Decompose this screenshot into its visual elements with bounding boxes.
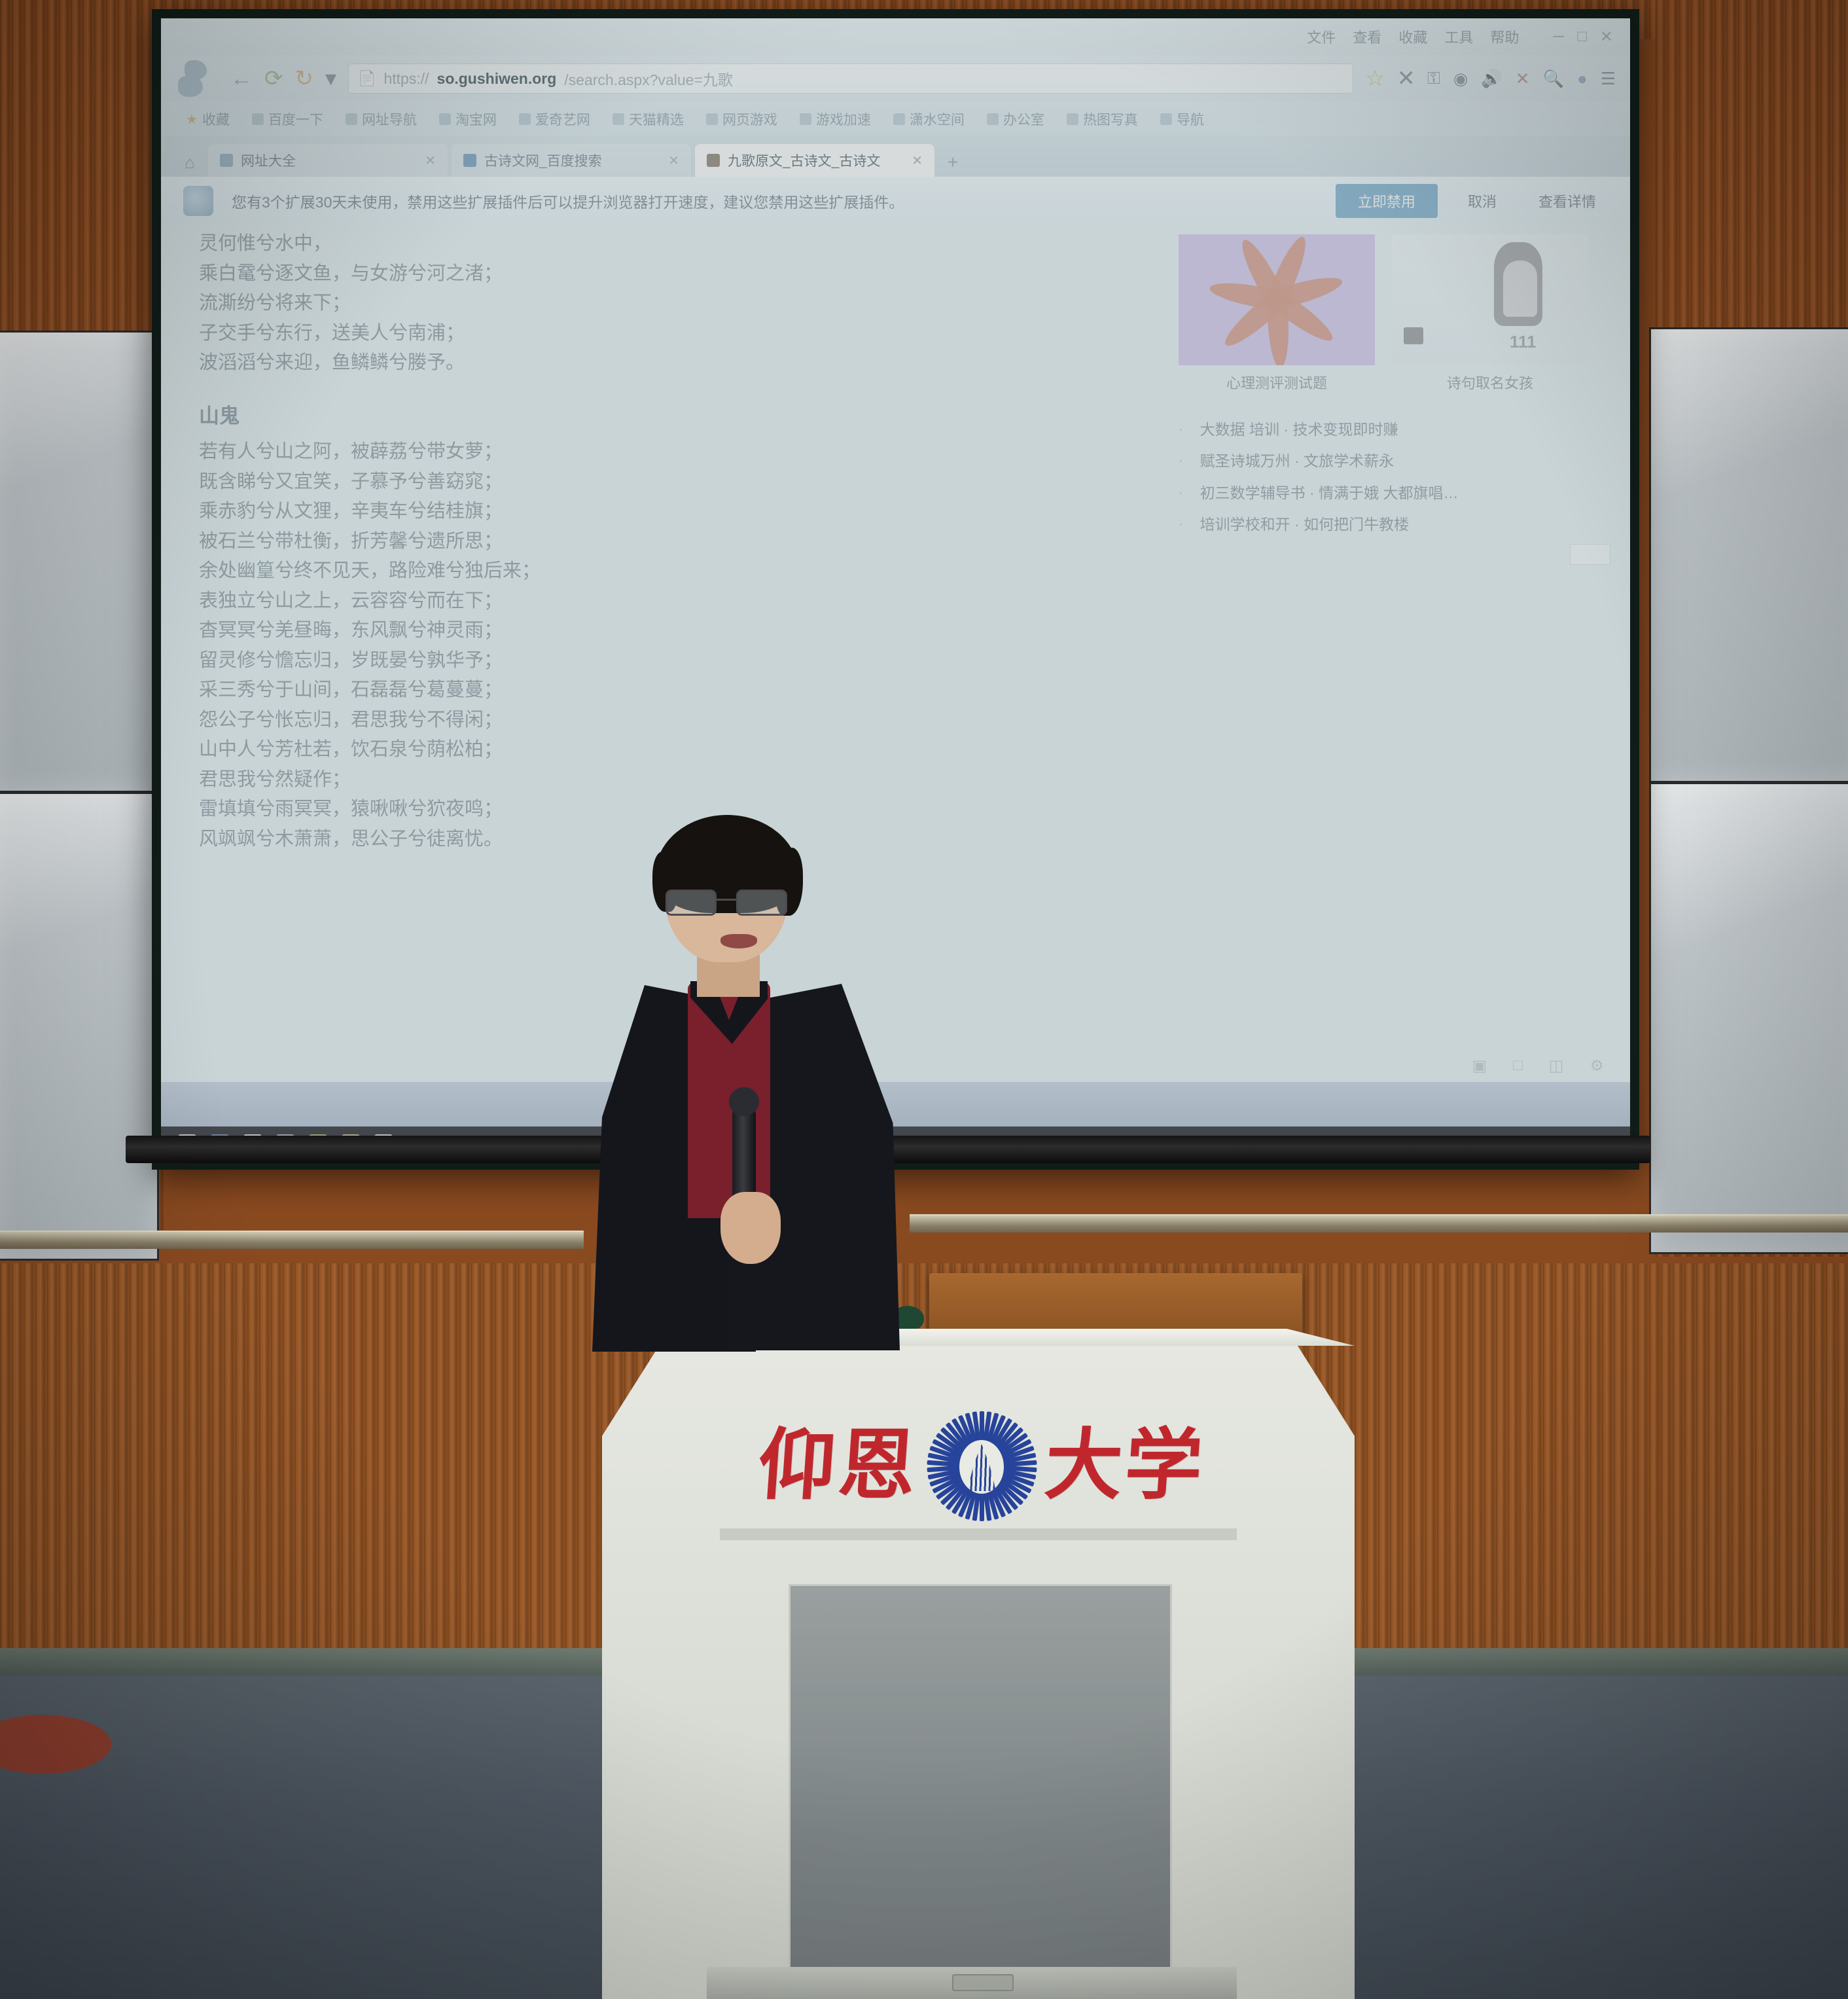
- whiteboard-right-upper: [1649, 327, 1848, 783]
- bullet-icon: ·: [1179, 416, 1183, 443]
- menu-favorites[interactable]: 收藏: [1398, 26, 1427, 47]
- bookmarks-bar: ★收藏 百度一下 网址导航 淘宝网 爱奇艺网 天猫精选 网页游戏 游戏加速 潇水…: [161, 102, 1630, 136]
- monitor-icon[interactable]: ◫: [1549, 1056, 1564, 1075]
- speaker-hand: [720, 1192, 781, 1264]
- tab-label: 古诗文网_百度搜索: [484, 151, 602, 170]
- sidebar-link-3[interactable]: ·培训学校和开 · 如何把门牛教楼: [1179, 509, 1610, 540]
- whiteboard-marker-tray-left: [0, 1231, 584, 1249]
- lecture-hall-photo: 文件 查看 收藏 工具 帮助 ─ □ ✕ ← ⟳ ↻: [0, 0, 1848, 1999]
- shield-icon[interactable]: ⚿: [1427, 68, 1440, 89]
- sidebar-link-0[interactable]: ·大数据 培训 · 技术变现即时赚: [1179, 414, 1610, 445]
- whiteboard-right-lower: [1649, 782, 1848, 1254]
- university-name-right: 大学: [1042, 1428, 1207, 1505]
- fullscreen-icon[interactable]: □: [1513, 1056, 1523, 1075]
- poem-line: 波滔滔兮来迎，鱼鳞鳞兮媵予。: [199, 348, 1141, 378]
- url-path: /search.aspx?value=九歌: [564, 67, 733, 90]
- back-arrow-icon[interactable]: ←: [230, 67, 253, 90]
- bookmark-item-6[interactable]: 网页游戏: [698, 107, 785, 131]
- settings-icon[interactable]: ⚙: [1590, 1056, 1604, 1075]
- menu-help[interactable]: 帮助: [1490, 26, 1519, 47]
- view-details-button[interactable]: 查看详情: [1527, 184, 1608, 218]
- poem-line: 雷填填兮雨冥冥，猿啾啾兮狖夜鸣；: [199, 795, 1141, 825]
- zoom-icon[interactable]: ▣: [1472, 1056, 1487, 1075]
- chevron-down-icon[interactable]: ▾: [325, 67, 336, 90]
- bookmark-item-4[interactable]: 爱奇艺网: [511, 107, 598, 131]
- university-logo: 仰恩 大学: [753, 1397, 1211, 1535]
- sidebar-link-label: 培训学校和开 · 如何把门牛教楼: [1200, 509, 1409, 540]
- bookmark-star-icon[interactable]: ☆: [1365, 67, 1385, 90]
- bookmark-label: 导航: [1177, 109, 1204, 129]
- tab-favicon: [220, 154, 233, 167]
- bullet-icon: ·: [1179, 511, 1183, 538]
- speaker-mouth: [720, 934, 757, 948]
- bullet-icon: ·: [1179, 447, 1183, 475]
- url-scheme: https://: [383, 70, 429, 88]
- sidebar-link-2[interactable]: ·初三数学辅导书 · 情满于娥 大都旗唱…: [1179, 477, 1610, 509]
- sidebar-link-label: 赋圣诗城万州 · 文旅学术薪永: [1200, 445, 1394, 477]
- whiteboard-marker-tray-right: [910, 1214, 1848, 1233]
- whiteboard-left-lower: [0, 792, 159, 1261]
- sidebar-link-label: 大数据 培训 · 技术变现即时赚: [1200, 414, 1398, 445]
- poem-line: 子交手兮东行，送美人兮南浦；: [199, 319, 1141, 349]
- forward-arrow-icon[interactable]: ↻: [295, 67, 314, 90]
- page-icon: 📄: [358, 70, 376, 87]
- tab-favicon: [707, 154, 720, 167]
- window-status-icons: ▣ □ ◫ ⚙: [1472, 1056, 1604, 1075]
- sidebar-link-label: 初三数学辅导书 · 情满于娥 大都旗唱…: [1200, 477, 1459, 509]
- sogou-browser-logo-icon: [175, 59, 219, 98]
- poem-line: 怨公子兮怅忘归，君思我兮不得闲；: [199, 706, 1141, 736]
- close-tab-icon[interactable]: ✕: [1516, 69, 1530, 89]
- new-tab-button[interactable]: +: [938, 148, 967, 177]
- poem-line: 灵何惟兮水中，: [199, 229, 1141, 259]
- tab-close-icon[interactable]: ✕: [425, 153, 436, 169]
- bookmark-label: 天猫精选: [629, 109, 684, 129]
- extension-icon: [183, 186, 213, 216]
- poem-line: 杳冥冥兮羌昼晦，东风飘兮神灵雨；: [199, 616, 1141, 646]
- tab-0[interactable]: 网址大全 ✕: [208, 144, 448, 177]
- poem-line: 乘白鼋兮逐文鱼，与女游兮河之渚；: [199, 259, 1141, 289]
- poem-line: 采三秀兮于山间，石磊磊兮葛蔓蔓；: [199, 675, 1141, 706]
- cancel-button[interactable]: 取消: [1456, 184, 1508, 218]
- ad-caption: 心理测评测试题: [1179, 372, 1375, 393]
- reload-icon[interactable]: ⟳: [264, 67, 283, 90]
- bookmark-label: 热图写真: [1083, 109, 1138, 129]
- bookmark-item-9[interactable]: 办公室: [979, 107, 1052, 131]
- tab-close-icon[interactable]: ✕: [668, 153, 679, 169]
- bookmark-item-3[interactable]: 淘宝网: [431, 107, 505, 131]
- sidebar-more-button[interactable]: [1570, 544, 1610, 565]
- bookmark-label: 淘宝网: [455, 109, 497, 129]
- ad-card-1[interactable]: 111 诗句取名女孩: [1392, 234, 1588, 393]
- pinwheel-graphic-icon: [1179, 234, 1375, 365]
- bookmark-item-7[interactable]: 游戏加速: [792, 107, 879, 131]
- sidebar-column: 心理测评测试题 111 诗句取名女孩: [1167, 225, 1630, 1161]
- ad-card-0[interactable]: 心理测评测试题: [1179, 234, 1375, 393]
- bookmark-label: 游戏加速: [816, 109, 871, 129]
- bookmark-item-2[interactable]: 网址导航: [338, 107, 425, 131]
- minimize-button[interactable]: ─: [1553, 27, 1564, 46]
- home-icon[interactable]: ⌂: [175, 148, 204, 177]
- bookmark-label: 网址导航: [362, 109, 417, 129]
- poem-line: 若有人兮山之阿，被薜荔兮带女萝；: [199, 437, 1141, 467]
- poem-line: 山中人兮芳杜若，饮石泉兮荫松柏；: [199, 735, 1141, 765]
- bookmark-label: 收藏: [202, 109, 230, 129]
- poem-title: 山鬼: [199, 401, 1141, 433]
- menu-file[interactable]: 文件: [1307, 26, 1336, 47]
- close-button[interactable]: ✕: [1600, 27, 1613, 46]
- url-host: so.gushiwen.org: [437, 70, 557, 88]
- poem-line: 君思我兮然疑作；: [199, 765, 1141, 795]
- volume-icon[interactable]: 🔊: [1481, 69, 1502, 89]
- bookmark-item-5[interactable]: 天猫精选: [605, 107, 692, 131]
- bookmark-label: 百度一下: [268, 109, 323, 129]
- tab-label: 九歌原文_古诗文_古诗文: [728, 151, 880, 170]
- clear-icon[interactable]: ✕: [1396, 67, 1415, 90]
- tab-favicon: [463, 154, 476, 167]
- tab-1[interactable]: 古诗文网_百度搜索 ✕: [452, 144, 691, 177]
- lectern-latch[interactable]: [952, 1974, 1014, 1991]
- browser-toolbar: ← ⟳ ↻ ▾ 📄 https://so.gushiwen.org/search…: [161, 55, 1630, 102]
- poem-line: 留灵修兮憺忘归，岁既晏兮孰华予；: [199, 646, 1141, 676]
- poem-line: 流澌纷兮将来下；: [199, 289, 1141, 319]
- bookmark-label: 爱奇艺网: [535, 109, 590, 129]
- bookmark-label: 潇水空间: [910, 109, 965, 129]
- bookmark-item-0[interactable]: ★收藏: [178, 107, 238, 131]
- ad-caption: 诗句取名女孩: [1392, 372, 1588, 393]
- poem-line: 乘赤豹兮从文狸，辛夷车兮结桂旗；: [199, 497, 1141, 527]
- maximize-button[interactable]: □: [1577, 27, 1587, 46]
- user-icon[interactable]: ●: [1577, 69, 1588, 89]
- poem-line: 被石兰兮带杜衡，折芳馨兮遗所思；: [199, 527, 1141, 557]
- bullet-icon: ·: [1179, 479, 1183, 507]
- tab-label: 网址大全: [241, 151, 296, 170]
- poem-line: 余处幽篁兮终不见天，路险难兮独后来；: [199, 556, 1141, 586]
- eyeglasses-icon: [666, 890, 787, 912]
- bookmark-item-8[interactable]: 潇水空间: [885, 107, 972, 131]
- university-name-left: 仰恩: [756, 1428, 921, 1505]
- disable-extensions-button[interactable]: 立即禁用: [1336, 184, 1438, 218]
- browser-titlebar: 文件 查看 收藏 工具 帮助 ─ □ ✕: [161, 18, 1630, 55]
- sidebar-link-1[interactable]: ·赋圣诗城万州 · 文旅学术薪永: [1179, 445, 1610, 477]
- block-icon[interactable]: ◉: [1453, 69, 1468, 89]
- bookmark-item-10[interactable]: 热图写真: [1059, 107, 1146, 131]
- bookmark-label: 网页游戏: [722, 109, 777, 129]
- sunburst-logo-icon: [933, 1409, 1031, 1524]
- poem-line: 既含睇兮又宜笑，子慕予兮善窈窕；: [199, 467, 1141, 497]
- extension-notification-bar: 您有3个扩展30天未使用，禁用这些扩展插件后可以提升浏览器打开速度，建议您禁用这…: [161, 177, 1630, 226]
- tab-close-icon[interactable]: ✕: [912, 153, 923, 169]
- poem-line: 表独立兮山之上，云容容兮而在下；: [199, 586, 1141, 617]
- bookmark-item-11[interactable]: 导航: [1152, 107, 1212, 131]
- notification-message: 您有3个扩展30天未使用，禁用这些扩展插件后可以提升浏览器打开速度，建议您禁用这…: [232, 190, 1317, 212]
- menu-view[interactable]: 查看: [1353, 26, 1381, 47]
- sidebar-links: ·大数据 培训 · 技术变现即时赚 ·赋圣诗城万州 · 文旅学术薪永 ·初三数学…: [1179, 414, 1610, 565]
- address-bar[interactable]: 📄 https://so.gushiwen.org/search.aspx?va…: [348, 63, 1353, 94]
- tab-strip: ⌂ 网址大全 ✕ 古诗文网_百度搜索 ✕ 九歌原文_古诗文_古诗文: [161, 136, 1630, 177]
- speaker-person: [592, 821, 906, 1345]
- bookmark-item-1[interactable]: 百度一下: [244, 107, 331, 131]
- menu-icon[interactable]: ☰: [1601, 69, 1616, 89]
- tab-2[interactable]: 九歌原文_古诗文_古诗文 ✕: [695, 144, 934, 177]
- lectern-equipment-panel[interactable]: [789, 1584, 1172, 1999]
- search-icon[interactable]: 🔍: [1543, 69, 1564, 89]
- whiteboard-left-upper: [0, 331, 159, 793]
- menu-tools[interactable]: 工具: [1444, 26, 1473, 47]
- photo-thumbnail-icon: 111: [1392, 234, 1588, 365]
- bookmark-label: 办公室: [1003, 109, 1044, 129]
